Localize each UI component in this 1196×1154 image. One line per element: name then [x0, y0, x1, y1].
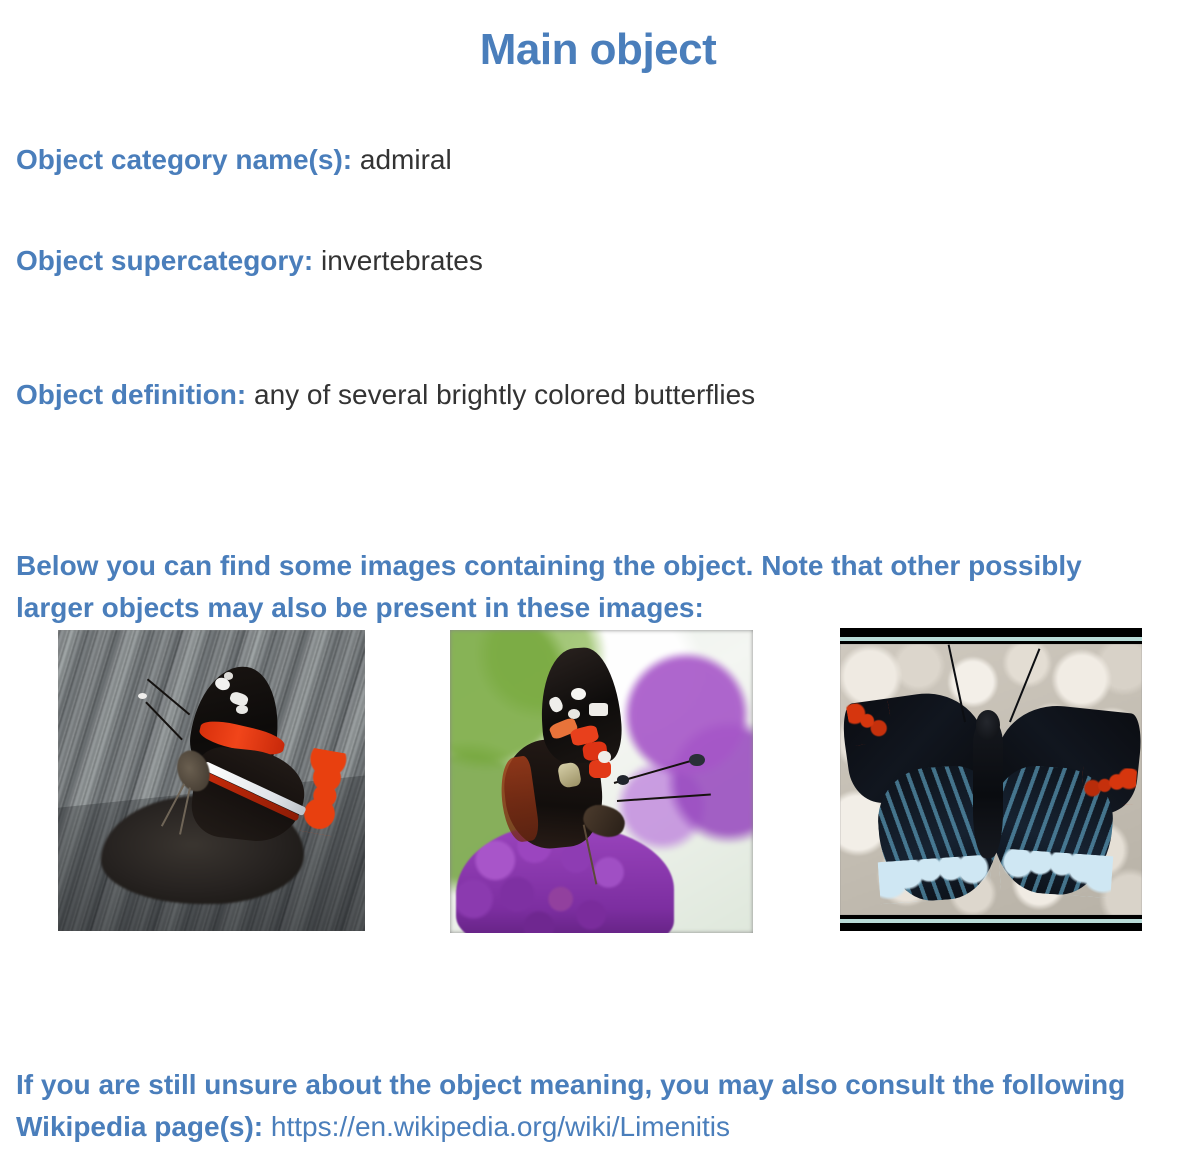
- butterfly-white-spot: [571, 688, 586, 700]
- butterfly-antenna-tip: [689, 754, 704, 766]
- main-object-page: Main object Object category name(s): adm…: [0, 0, 1196, 1154]
- butterfly-left-edge-spots: [878, 854, 1001, 905]
- gallery-intro-text: Below you can find some images containin…: [16, 545, 1126, 629]
- field-label-object-definition: Object definition:: [16, 379, 246, 410]
- field-value-object-category: admiral: [360, 144, 452, 175]
- page-title: Main object: [16, 0, 1180, 74]
- field-value-object-supercategory: invertebrates: [321, 245, 483, 276]
- field-label-object-supercategory: Object supercategory:: [16, 245, 313, 276]
- butterfly-antenna-tip: [617, 775, 629, 784]
- field-object-category: Object category name(s): admiral: [16, 142, 452, 177]
- butterfly-white-spot: [589, 703, 607, 717]
- gallery-image-red-spotted-purple-on-gravel[interactable]: [840, 628, 1142, 931]
- field-label-object-category: Object category name(s):: [16, 144, 352, 175]
- field-object-definition: Object definition: any of several bright…: [16, 377, 755, 412]
- example-image-gallery: [0, 628, 1196, 933]
- letterbox-accent-line: [840, 637, 1142, 641]
- wikipedia-link[interactable]: https://en.wikipedia.org/wiki/Limenitis: [271, 1111, 730, 1142]
- butterfly-right-red-spots: [1080, 766, 1137, 806]
- butterfly-white-spot: [224, 672, 233, 680]
- gallery-image-red-admiral-on-purple-buddleia[interactable]: [450, 630, 753, 933]
- wikipedia-hint: If you are still unsure about the object…: [16, 1064, 1166, 1148]
- butterfly-right-edge-spots: [990, 848, 1113, 899]
- letterbox-bar-bottom: [840, 915, 1142, 931]
- letterbox-bar-top: [840, 628, 1142, 644]
- butterfly-orange-band: [589, 760, 610, 778]
- field-object-supercategory: Object supercategory: invertebrates: [16, 243, 483, 278]
- butterfly-white-spot: [598, 751, 610, 763]
- field-value-object-definition: any of several brightly colored butterfl…: [254, 379, 755, 410]
- butterfly-head: [976, 710, 1000, 740]
- gallery-image-red-admiral-on-wooden-deck[interactable]: [58, 630, 365, 931]
- letterbox-accent-line: [840, 919, 1142, 923]
- butterfly-left-red-spots: [846, 697, 895, 746]
